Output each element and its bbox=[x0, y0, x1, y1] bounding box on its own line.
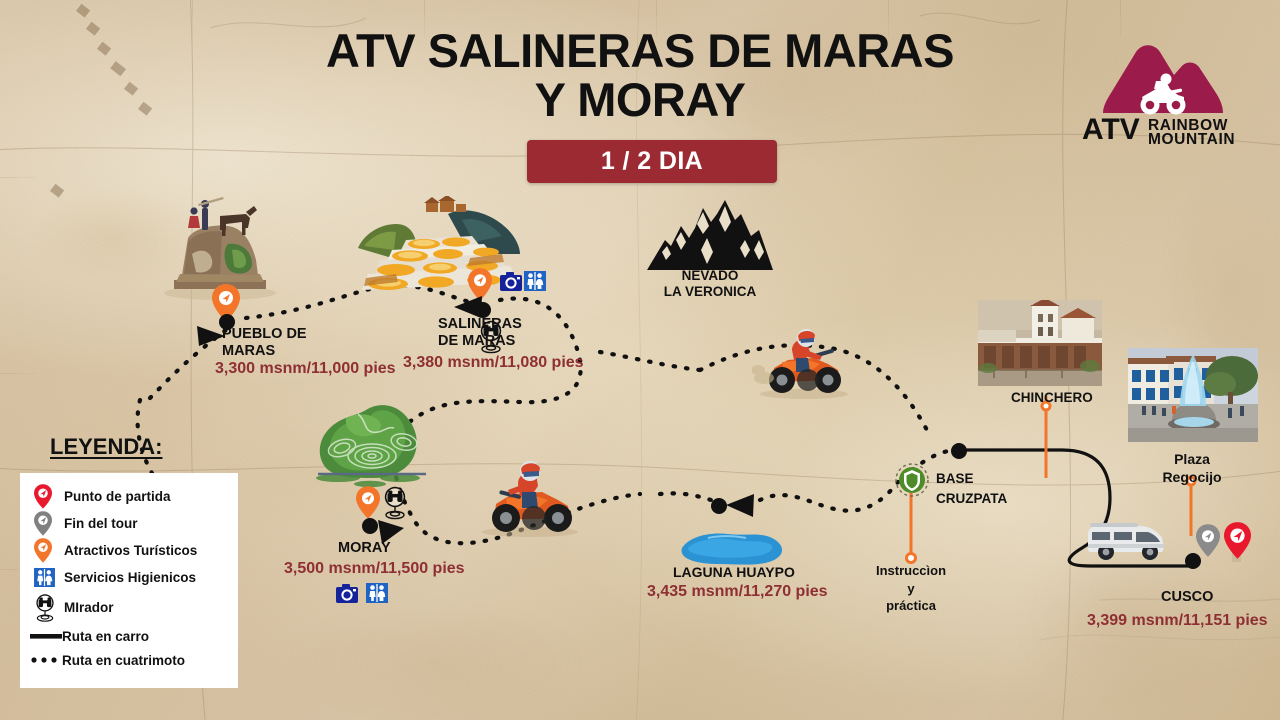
title-line-2: Y MORAY bbox=[240, 75, 1040, 124]
page-title: ATV SALINERAS DE MARAS Y MORAY bbox=[240, 26, 1040, 125]
duration-badge: 1 / 2 DIA bbox=[527, 140, 777, 183]
camera-icon[interactable] bbox=[500, 272, 522, 296]
legend-label: Fin del tour bbox=[64, 516, 138, 531]
route-stop-dot bbox=[951, 443, 967, 459]
label-pueblo-de-maras: PUEBLO DE MARAS bbox=[222, 326, 307, 360]
atv-quad-rider-photo bbox=[752, 328, 852, 400]
label-nevado-la-veronica: NEVADO LA VERONICA bbox=[660, 268, 760, 300]
legend-label: Atractivos Turísticos bbox=[64, 543, 197, 558]
altitude-moray: 3,500 msnm/11,500 pies bbox=[284, 560, 465, 578]
altitude-cusco: 3,399 msnm/11,151 pies bbox=[1087, 612, 1268, 630]
mountain-silhouette-icon bbox=[645, 196, 775, 272]
label-cusco: CUSCO bbox=[1161, 589, 1213, 606]
logo-brand-line2: MOUNTAIN bbox=[1148, 131, 1235, 145]
label-plaza-regocijo: Plaza Regocijo bbox=[1132, 450, 1252, 486]
altitude-laguna-huaypo: 3,435 msnm/11,270 pies bbox=[647, 583, 828, 601]
atv-quad-rider-photo bbox=[474, 460, 582, 538]
legend-title: LEYENDA: bbox=[50, 434, 162, 460]
title-line-1: ATV SALINERAS DE MARAS bbox=[240, 26, 1040, 75]
label-laguna-huaypo: LAGUNA HUAYPO bbox=[673, 564, 795, 581]
van-photo bbox=[1084, 518, 1168, 562]
label-base-cruzpata: BASE CRUZPATA bbox=[936, 469, 1007, 508]
label-salineras-de-maras: SALINERAS DE MARAS bbox=[438, 316, 522, 350]
legend-box: Punto de partida Fin del tour Atractivos… bbox=[20, 473, 238, 688]
legend-item-mirador[interactable]: MIrador bbox=[34, 591, 238, 624]
legend-item-atractivos-turisticos[interactable]: Atractivos Turísticos bbox=[34, 537, 238, 564]
direction-arrow-icon bbox=[722, 492, 756, 525]
brand-logo[interactable]: ATV RAINBOW MOUNTAIN bbox=[1070, 35, 1235, 145]
map-pin-red-icon[interactable] bbox=[1224, 522, 1251, 564]
dotted-line-icon bbox=[30, 655, 62, 665]
plaza-regocijo-photo bbox=[1128, 348, 1258, 442]
map-pin-gray-icon bbox=[34, 511, 64, 536]
altitude-salineras-de-maras: 3,380 msnm/11,080 pies bbox=[403, 354, 584, 372]
label-chinchero: CHINCHERO bbox=[1011, 390, 1093, 406]
label-moray: MORAY bbox=[338, 540, 391, 557]
moray-terraces-illustration bbox=[308, 398, 436, 490]
shield-badge-icon[interactable] bbox=[894, 462, 930, 503]
legend-label: MIrador bbox=[64, 600, 114, 615]
map-pin-red-icon bbox=[34, 484, 64, 509]
legend-item-punto-de-partida[interactable]: Punto de partida bbox=[34, 483, 238, 510]
legend-item-fin-del-tour[interactable]: Fin del tour bbox=[34, 510, 238, 537]
restroom-icon[interactable] bbox=[366, 583, 388, 608]
camera-icon[interactable] bbox=[336, 584, 358, 608]
legend-label: Servicios Higienicos bbox=[64, 570, 196, 585]
solid-line-icon bbox=[30, 631, 62, 641]
label-instruccion-practica: Instruccìon y práctica bbox=[856, 562, 966, 615]
salt-pans-illustration bbox=[352, 196, 522, 292]
logo-brand-main: ATV bbox=[1082, 113, 1140, 145]
chinchero-photo bbox=[978, 300, 1102, 386]
legend-item-servicios-higienicos[interactable]: Servicios Higienicos bbox=[34, 564, 238, 591]
map-pin-orange-icon bbox=[34, 538, 64, 563]
legend-item-ruta-en-cuatrimoto[interactable]: Ruta en cuatrimoto bbox=[34, 648, 238, 672]
map-pin-gray-icon[interactable] bbox=[1196, 524, 1220, 562]
binoculars-viewpoint-icon bbox=[34, 593, 64, 623]
legend-label: Punto de partida bbox=[64, 489, 171, 504]
legend-label: Ruta en cuatrimoto bbox=[62, 653, 185, 668]
legend-label: Ruta en carro bbox=[62, 629, 149, 644]
altitude-pueblo-de-maras: 3,300 msnm/11,000 pies bbox=[215, 360, 396, 378]
restroom-icon bbox=[34, 568, 64, 587]
legend-item-ruta-en-carro[interactable]: Ruta en carro bbox=[34, 624, 238, 648]
restroom-icon[interactable] bbox=[524, 271, 546, 296]
